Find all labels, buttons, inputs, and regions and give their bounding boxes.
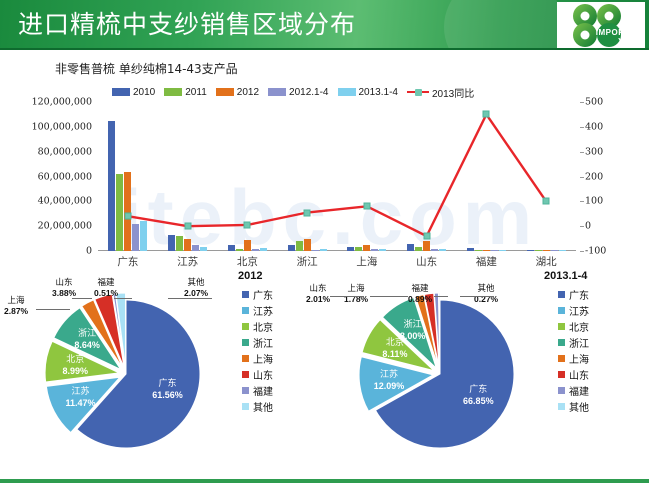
logo-word-line2: YARN [618, 37, 642, 46]
y-tick-mark-right [580, 152, 584, 153]
legend-line-swatch [407, 88, 429, 97]
y-tick-right: 100 [585, 196, 603, 207]
pie-callout-label-山东: 山东3.88% [52, 278, 76, 298]
logo-word-line1: IMPORTED [596, 28, 642, 37]
pie-label-value: 0.89% [408, 294, 432, 304]
pie-legend-item-浙江: 浙江 [558, 334, 622, 350]
trend-point-广东 [124, 213, 131, 220]
pie-legend-label: 江苏 [253, 303, 273, 318]
y-tick-mark-right [580, 251, 584, 252]
pie-label-name: 其他 [184, 278, 208, 288]
trend-point-福建 [483, 111, 490, 118]
pie-legend-swatch [558, 355, 565, 362]
pie-legend-swatch [242, 387, 249, 394]
legend-item-5: 2013同比 [407, 85, 474, 100]
pie-legend-item-上海: 上海 [242, 350, 306, 366]
pie-label-name: 广东 [469, 385, 487, 395]
pie-legend-item-山东: 山东 [558, 366, 622, 382]
pie-label-name: 上海 [344, 284, 368, 294]
trend-point-湖北 [543, 198, 550, 205]
pie-legend-swatch [558, 339, 565, 346]
imported-yarn-logo: IMPORTED YARN [557, 2, 645, 48]
y-tick-left: 60,000,000 [38, 171, 92, 182]
pie-legend-item-其他: 其他 [242, 398, 306, 414]
pie-slice-label-广东: 广东66.85% [454, 385, 502, 408]
y-tick-right: 0 [585, 221, 591, 232]
legend-color-swatch [112, 88, 130, 96]
pie-label-name: 山东 [52, 278, 76, 288]
pie-legend-item-广东: 广东 [558, 286, 622, 302]
pie-slice-label-江苏: 江苏11.47% [56, 387, 104, 410]
y-tick-mark-right [580, 226, 584, 227]
pie-label-name: 浙江 [404, 320, 422, 330]
legend-label: 2012.1-4 [289, 87, 328, 98]
pie-label-name: 其他 [474, 284, 498, 294]
y-tick-left: 20,000,000 [38, 221, 92, 232]
pie-callout-label-其他: 其他0.27% [474, 284, 498, 304]
pie-legend-item-浙江: 浙江 [242, 334, 306, 350]
pie-legend-label: 北京 [253, 319, 273, 334]
pie-legend-label: 北京 [569, 319, 589, 334]
slide-root: 进口精梳中支纱销售区域分布 IMPORTED YARN 非零售普 [0, 0, 649, 483]
pie-label-value: 2.87% [4, 306, 28, 316]
legend-item-1: 2011 [164, 87, 207, 98]
pie-callout-label-福建: 福建0.89% [408, 284, 432, 304]
pie-label-value: 8.11% [382, 349, 407, 359]
pie-legend-label: 浙江 [569, 335, 589, 350]
pie-legend-swatch [558, 387, 565, 394]
pie-label-name: 江苏 [380, 370, 398, 380]
pie-legend-swatch [558, 291, 565, 298]
pie-legend-swatch [242, 371, 249, 378]
bar-chart-plot-area [98, 102, 576, 251]
y-tick-left: 80,000,000 [38, 146, 92, 157]
pie-slice-label-浙江: 浙江8.64% [63, 329, 111, 352]
legend-color-swatch [216, 88, 234, 96]
y-tick-right: 300 [585, 146, 603, 157]
pie-label-name: 上海 [4, 296, 28, 306]
pie-slice-label-江苏: 江苏12.09% [365, 370, 413, 393]
pie-callout-leader [36, 309, 70, 310]
pie-label-value: 61.56% [152, 390, 183, 400]
pie-chart-2012-panel: 2012 广东江苏北京浙江上海山东福建其他 广东61.56%江苏11.47%北京… [8, 262, 326, 478]
pie-legend-item-福建: 福建 [558, 382, 622, 398]
pie-callout-leader [370, 296, 408, 297]
pie-legend-swatch [242, 403, 249, 410]
pie-legend-item-北京: 北京 [558, 318, 622, 334]
pie-legend-label: 上海 [569, 351, 589, 366]
pie-label-value: 11.47% [65, 398, 95, 408]
pie-legend-swatch [242, 339, 249, 346]
pie-label-value: 8.99% [62, 366, 88, 376]
y-tick-right: 400 [585, 121, 603, 132]
pie-callout-label-上海: 上海2.87% [4, 296, 28, 316]
trend-point-北京 [244, 221, 251, 228]
pie-label-name: 山东 [306, 284, 330, 294]
pie-legend-item-江苏: 江苏 [242, 302, 306, 318]
legend-item-3: 2012.1-4 [268, 87, 328, 98]
pie-callout-label-福建: 福建0.51% [94, 278, 118, 298]
pie-legend-swatch [242, 307, 249, 314]
pie-label-value: 12.09% [374, 381, 405, 391]
trend-point-江苏 [184, 223, 191, 230]
pie-legend-label: 福建 [569, 383, 589, 398]
bar-chart-y-axis-right: -1000100200300400500 [580, 102, 642, 251]
pie-legend-swatch [242, 355, 249, 362]
trend-line-series [98, 102, 576, 251]
pie-legend-item-山东: 山东 [242, 366, 306, 382]
pie-legend-item-福建: 福建 [242, 382, 306, 398]
pie-legend-label: 山东 [253, 367, 273, 382]
pie-callout-leader [460, 296, 494, 297]
legend-label: 2010 [133, 87, 155, 98]
pie-legend-label: 江苏 [569, 303, 589, 318]
pie-label-value: 8.00% [400, 331, 426, 341]
legend-item-4: 2013.1-4 [338, 87, 398, 98]
y-tick-right: -100 [585, 246, 606, 257]
pie-label-value: 66.85% [463, 396, 494, 406]
pie-legend-label: 广东 [253, 287, 273, 302]
pie-label-name: 福建 [94, 278, 118, 288]
legend-label: 2013.1-4 [359, 87, 398, 98]
pie-legend-label: 上海 [253, 351, 273, 366]
legend-color-swatch [164, 88, 182, 96]
pie-legend-swatch [242, 323, 249, 330]
pie-callout-label-山东: 山东2.01% [306, 284, 330, 304]
pie-label-name: 广东 [158, 379, 176, 389]
legend-label: 2012 [237, 87, 259, 98]
pie-legend-swatch [558, 371, 565, 378]
pie-label-name: 江苏 [71, 387, 89, 397]
pie-slice-label-浙江: 浙江8.00% [389, 320, 437, 343]
pie-legend-swatch [558, 323, 565, 330]
pie-callout-label-上海: 上海1.78% [344, 284, 368, 304]
pie-legend-item-广东: 广东 [242, 286, 306, 302]
legend-color-swatch [338, 88, 356, 96]
logo-wordmark: IMPORTED YARN [596, 28, 642, 46]
pie-legend-label: 山东 [569, 367, 589, 382]
slide-title-bar: 进口精梳中支纱销售区域分布 [0, 0, 649, 50]
y-tick-left: 120,000,000 [32, 97, 92, 108]
trend-point-山东 [423, 233, 430, 240]
pie-legend-label: 其他 [569, 399, 589, 414]
pie-callout-leader [114, 298, 132, 299]
legend-color-swatch [268, 88, 286, 96]
y-tick-left: 0 [86, 246, 92, 257]
y-tick-left: 100,000,000 [32, 121, 92, 132]
y-tick-mark-right [580, 102, 584, 103]
pie-slice-label-北京: 北京8.99% [51, 355, 99, 378]
y-tick-mark-right [580, 201, 584, 202]
pie-label-name: 北京 [66, 355, 84, 365]
bar-chart-y-axis-left: 020,000,00040,000,00060,000,00080,000,00… [0, 102, 92, 251]
pie-2013-title: 2013.1-4 [544, 270, 587, 282]
pie-label-value: 3.88% [52, 288, 76, 298]
pie-2013-legend: 广东江苏北京浙江上海山东福建其他 [558, 286, 622, 414]
pie-2012-title: 2012 [238, 270, 262, 282]
legend-label: 2011 [185, 87, 207, 98]
pie-legend-label: 其他 [253, 399, 273, 414]
pie-legend-item-其他: 其他 [558, 398, 622, 414]
trend-point-上海 [363, 203, 370, 210]
pie-label-name: 福建 [408, 284, 432, 294]
y-tick-mark-right [580, 177, 584, 178]
bar-chart-panel: 非零售普梳 单纱纯棉14-43支产品 2010201120122012.1-42… [0, 52, 649, 267]
legend-item-0: 2010 [112, 87, 155, 98]
legend-label: 2013同比 [432, 85, 474, 100]
pie-2012-legend: 广东江苏北京浙江上海山东福建其他 [242, 286, 306, 414]
bar-chart-legend: 2010201120122012.1-42013.1-42013同比 [112, 84, 532, 100]
pie-callout-label-其他: 其他2.07% [184, 278, 208, 298]
pie-chart-2013-panel: 2013.1-4 广东江苏北京浙江上海山东福建其他 广东66.85%江苏12.0… [322, 262, 644, 478]
y-tick-left: 40,000,000 [38, 196, 92, 207]
pie-callout-leader [72, 298, 92, 299]
footer-accent-line [0, 479, 649, 483]
pie-legend-label: 浙江 [253, 335, 273, 350]
y-tick-mark-right [580, 127, 584, 128]
pie-label-value: 2.07% [184, 288, 208, 298]
pie-label-value: 8.64% [74, 340, 100, 350]
pie-label-name: 浙江 [78, 329, 96, 339]
pie-legend-swatch [558, 403, 565, 410]
pie-legend-item-江苏: 江苏 [558, 302, 622, 318]
y-tick-right: 200 [585, 171, 603, 182]
pie-legend-label: 广东 [569, 287, 589, 302]
pie-label-value: 0.51% [94, 288, 118, 298]
y-tick-right: 500 [585, 97, 603, 108]
pie-legend-swatch [558, 307, 565, 314]
pie-callout-leader [168, 298, 212, 299]
pie-callout-leader [330, 296, 364, 297]
pie-legend-item-上海: 上海 [558, 350, 622, 366]
pie-label-value: 2.01% [306, 294, 330, 304]
pie-slice-label-广东: 广东61.56% [144, 379, 192, 402]
page-title: 进口精梳中支纱销售区域分布 [18, 7, 356, 43]
pie-legend-label: 福建 [253, 383, 273, 398]
pie-callout-leader [434, 296, 448, 297]
bar-chart-title: 非零售普梳 单纱纯棉14-43支产品 [55, 60, 238, 77]
pie-legend-item-北京: 北京 [242, 318, 306, 334]
title-underline [0, 48, 649, 50]
pie-legend-swatch [242, 291, 249, 298]
trend-point-浙江 [304, 209, 311, 216]
legend-item-2: 2012 [216, 87, 259, 98]
